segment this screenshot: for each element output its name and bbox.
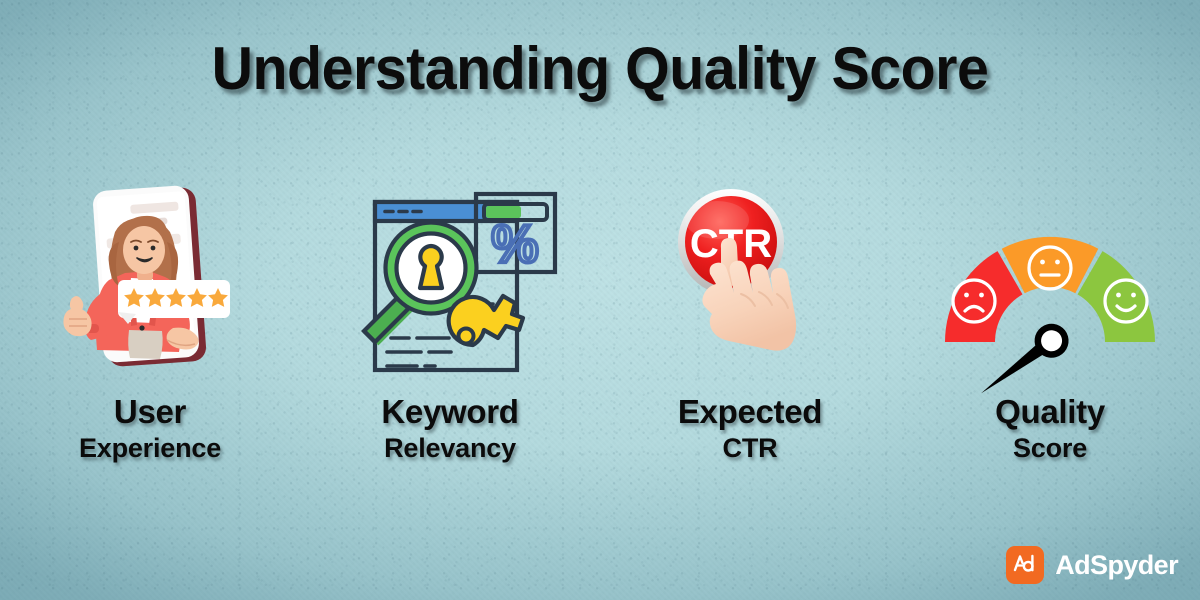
column-expected-ctr: CTR	[600, 180, 900, 500]
five-star-card	[118, 280, 230, 324]
caption-line1: User	[79, 395, 221, 430]
column-keyword-relevancy: %	[300, 180, 600, 500]
caption-keyword-relevancy: Keyword Relevancy	[381, 395, 518, 463]
caption-user-experience: User Experience	[79, 395, 221, 463]
adspyder-logo[interactable]: AdSpyder	[1006, 546, 1178, 584]
document-magnifier-key-icon: %	[300, 180, 600, 395]
infographic-canvas: Understanding Quality Score	[0, 0, 1200, 600]
caption-line1: Expected	[678, 395, 822, 430]
caption-expected-ctr: Expected CTR	[678, 395, 822, 463]
column-quality-score: Quality Score	[900, 180, 1200, 500]
caption-line1: Quality	[995, 395, 1105, 430]
adspyder-logo-mark	[1006, 546, 1044, 584]
percent-symbol: %	[491, 215, 538, 274]
percent-panel: %	[476, 194, 555, 274]
caption-line1: Keyword	[381, 395, 518, 430]
caption-line2: Score	[995, 434, 1105, 463]
caption-line2: Experience	[79, 434, 221, 463]
caption-quality-score: Quality Score	[995, 395, 1105, 463]
quality-score-gauge-icon	[900, 180, 1200, 395]
ctr-button-hand-click-icon: CTR	[600, 180, 900, 395]
page-title: Understanding Quality Score	[27, 34, 1173, 103]
caption-line2: CTR	[678, 434, 822, 463]
adspyder-logo-word: AdSpyder	[1055, 550, 1178, 581]
column-user-experience: User Experience	[0, 180, 300, 500]
phone-person-five-star-icon	[0, 180, 300, 395]
columns-row: User Experience	[0, 180, 1200, 500]
caption-line2: Relevancy	[381, 434, 518, 463]
